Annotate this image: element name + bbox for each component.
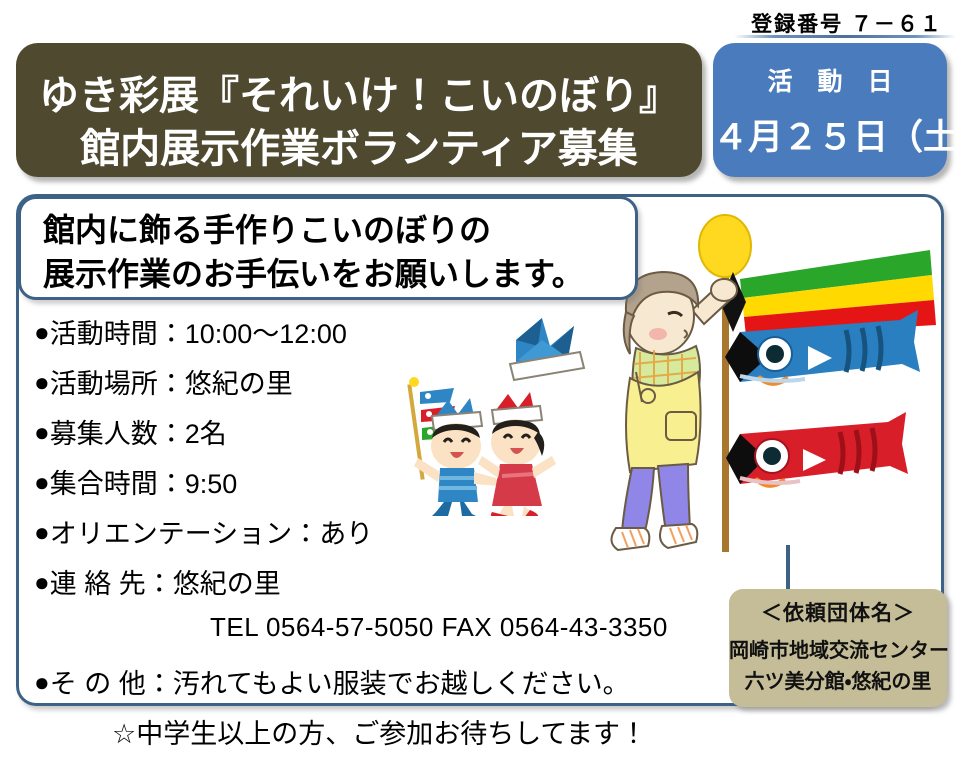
detail-label: 活動場所: [50, 369, 158, 399]
bullet-icon: ●: [34, 317, 50, 347]
detail-value: 汚れてもよい服装でお越しください。: [173, 669, 630, 699]
detail-row-contact: ●連 絡 先：悠紀の里: [34, 562, 754, 612]
detail-value: 2名: [185, 419, 227, 449]
detail-separator: ：: [158, 319, 185, 349]
title-box: ゆき彩展『それいけ！こいのぼり』 館内展示作業ボランティア募集: [16, 43, 702, 177]
organization-title: ＜依頼団体名＞: [729, 597, 947, 627]
bullet-icon: ●: [34, 417, 50, 447]
detail-row-other: ●そ の 他：汚れてもよい服装でお越しください。: [34, 662, 754, 712]
bullet-icon: ●: [34, 467, 50, 497]
detail-separator: ：: [146, 669, 173, 699]
bullet-icon: ●: [34, 567, 50, 597]
detail-row-phone-fax: TEL 0564-57-5050 FAX 0564-43-3350: [34, 612, 754, 662]
phone-fax-value: TEL 0564-57-5050 FAX 0564-43-3350: [210, 612, 668, 642]
registration-number: 登録番号 ７－６１: [742, 8, 952, 38]
bullet-icon: ●: [34, 667, 50, 697]
activity-date-box: 活 動 日 ４月２５日（土）: [713, 43, 947, 177]
detail-separator: ：: [292, 519, 319, 549]
organization-line-1: 岡崎市地域交流センター: [729, 634, 947, 663]
detail-row-orientation: ●オリエンテーション：あり: [34, 512, 754, 562]
detail-value: 悠紀の里: [173, 569, 281, 599]
detail-row-meeting-time: ●集合時間：9:50: [34, 462, 754, 512]
detail-label: 集合時間: [50, 469, 158, 499]
detail-row-participants: ●募集人数：2名: [34, 412, 754, 462]
subtitle-box: 館内に飾る手作りこいのぼりの 展示作業のお手伝いをお願いします。: [18, 196, 638, 300]
poster-root: 登録番号 ７－６１ ゆき彩展『それいけ！こいのぼり』 館内展示作業ボランティア募…: [0, 0, 960, 720]
bullet-icon: ●: [34, 517, 50, 547]
detail-value: 悠紀の里: [185, 369, 293, 399]
bullet-icon: ●: [34, 367, 50, 397]
registration-underline: [734, 35, 956, 38]
detail-row-activity-time: ●活動時間：10:00〜12:00: [34, 312, 754, 362]
detail-label: 活動時間: [50, 319, 158, 349]
detail-row-location: ●活動場所：悠紀の里: [34, 362, 754, 412]
detail-label: オリエンテーション: [50, 519, 292, 549]
detail-separator: ：: [158, 469, 185, 499]
details-list: ●活動時間：10:00〜12:00 ●活動場所：悠紀の里 ●募集人数：2名 ●集…: [34, 312, 754, 762]
detail-value: あり: [319, 519, 373, 549]
activity-date-label: 活 動 日: [713, 62, 947, 98]
note-value: ☆中学生以上の方、ご参加お待ちしてます！: [112, 719, 647, 749]
detail-label: 連 絡 先: [50, 569, 146, 599]
activity-date-value: ４月２５日（土）: [713, 109, 947, 160]
org-connector-line: [786, 545, 790, 595]
organization-box: ＜依頼団体名＞ 岡崎市地域交流センター 六ツ美分館・悠紀の里: [729, 589, 947, 707]
organization-line-2: 六ツ美分館・悠紀の里: [729, 665, 947, 694]
title-line-1: ゆき彩展『それいけ！こいのぼり』: [16, 63, 702, 121]
subtitle-line-2: 展示作業のお手伝いをお願いします。: [43, 249, 584, 295]
detail-label: 募集人数: [50, 419, 158, 449]
subtitle-line-1: 館内に飾る手作りこいのぼりの: [43, 205, 491, 251]
detail-label: そ の 他: [50, 669, 146, 699]
title-line-2: 館内展示作業ボランティア募集: [16, 116, 702, 174]
detail-value: 10:00〜12:00: [185, 319, 347, 349]
detail-separator: ：: [158, 419, 185, 449]
detail-separator: ：: [146, 569, 173, 599]
detail-value: 9:50: [185, 469, 238, 499]
detail-separator: ：: [158, 369, 185, 399]
